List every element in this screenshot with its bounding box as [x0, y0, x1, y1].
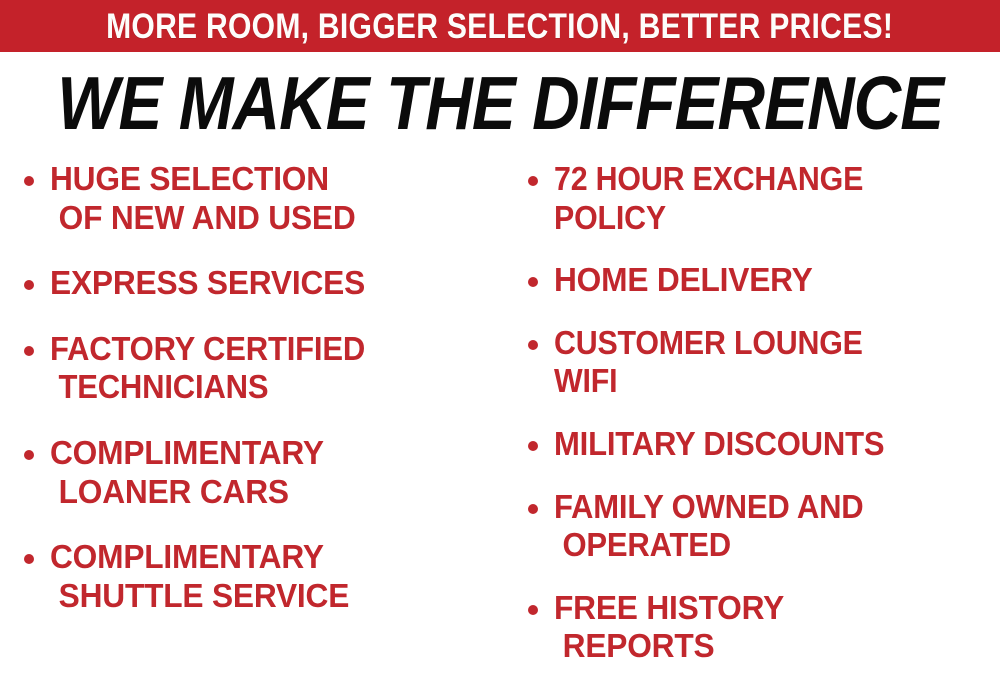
list-item-line: POLICY	[554, 199, 964, 238]
list-item-text: FREE HISTORY REPORTS	[554, 589, 1000, 666]
list-item-line: SHUTTLE SERVICE	[50, 577, 486, 616]
headline-text: WE MAKE THE DIFFERENCE	[57, 66, 943, 141]
promo-banner-text: MORE ROOM, BIGGER SELECTION, BETTER PRIC…	[106, 9, 893, 44]
list-item: HOME DELIVERY	[518, 261, 1000, 300]
list-item-line: LOANER CARS	[50, 473, 486, 512]
list-item-text: HUGE SELECTION OF NEW AND USED	[50, 160, 504, 237]
list-item-line: REPORTS	[554, 627, 982, 666]
list-item: FAMILY OWNED AND OPERATED	[518, 488, 1000, 565]
list-item-text: HOME DELIVERY	[554, 261, 1000, 300]
bullet-dot-icon	[528, 605, 538, 615]
bullet-dot-icon	[528, 504, 538, 514]
list-item: MILITARY DISCOUNTS	[518, 425, 1000, 464]
list-item-line: CUSTOMER LOUNGE	[554, 324, 964, 363]
list-item-line: FACTORY CERTIFIED	[50, 330, 477, 369]
bullet-dot-icon	[24, 176, 34, 186]
bullet-dot-icon	[528, 441, 538, 451]
list-item-text: CUSTOMER LOUNGE WIFI	[554, 324, 1000, 401]
list-item-line: WIFI	[554, 362, 964, 401]
promo-banner: MORE ROOM, BIGGER SELECTION, BETTER PRIC…	[0, 0, 1000, 52]
list-item: CUSTOMER LOUNGE WIFI	[518, 324, 1000, 401]
list-item: FREE HISTORY REPORTS	[518, 589, 1000, 666]
list-item-text: FAMILY OWNED AND OPERATED	[554, 488, 1000, 565]
list-item-text: 72 HOUR EXCHANGE POLICY	[554, 160, 1000, 237]
bullet-dot-icon	[24, 554, 34, 564]
list-item-text: COMPLIMENTARY SHUTTLE SERVICE	[50, 538, 504, 615]
bullet-dot-icon	[528, 277, 538, 287]
bullet-dot-icon	[24, 280, 34, 290]
list-item-line: EXPRESS SERVICES	[50, 264, 486, 303]
bullet-dot-icon	[24, 346, 34, 356]
list-item-line: MILITARY DISCOUNTS	[554, 425, 973, 464]
list-item: COMPLIMENTARY LOANER CARS	[14, 434, 504, 511]
bullet-dot-icon	[24, 450, 34, 460]
features-column-left: HUGE SELECTION OF NEW AND USED EXPRESS S…	[14, 160, 504, 642]
list-item-line: HUGE SELECTION	[50, 160, 486, 199]
list-item-text: COMPLIMENTARY LOANER CARS	[50, 434, 504, 511]
list-item-line: HOME DELIVERY	[554, 261, 982, 300]
features-columns: HUGE SELECTION OF NEW AND USED EXPRESS S…	[0, 160, 1000, 694]
list-item-line: FREE HISTORY	[554, 589, 982, 628]
list-item-line: COMPLIMENTARY	[50, 538, 486, 577]
list-item-text: EXPRESS SERVICES	[50, 264, 504, 303]
list-item-text: FACTORY CERTIFIED TECHNICIANS	[50, 330, 504, 407]
list-item: EXPRESS SERVICES	[14, 264, 504, 303]
list-item-line: COMPLIMENTARY	[50, 434, 486, 473]
headline: WE MAKE THE DIFFERENCE	[0, 66, 1000, 136]
list-item-line: TECHNICIANS	[50, 368, 477, 407]
list-item-line: FAMILY OWNED AND	[554, 488, 973, 527]
list-item: 72 HOUR EXCHANGE POLICY	[518, 160, 1000, 237]
bullet-dot-icon	[528, 340, 538, 350]
list-item: FACTORY CERTIFIED TECHNICIANS	[14, 330, 504, 407]
list-item-line: 72 HOUR EXCHANGE	[554, 160, 964, 199]
features-column-right: 72 HOUR EXCHANGE POLICY HOME DELIVERY CU…	[518, 160, 1000, 690]
list-item: HUGE SELECTION OF NEW AND USED	[14, 160, 504, 237]
list-item-line: OF NEW AND USED	[50, 199, 486, 238]
list-item-line: OPERATED	[554, 526, 973, 565]
list-item: COMPLIMENTARY SHUTTLE SERVICE	[14, 538, 504, 615]
list-item-text: MILITARY DISCOUNTS	[554, 425, 1000, 464]
bullet-dot-icon	[528, 176, 538, 186]
